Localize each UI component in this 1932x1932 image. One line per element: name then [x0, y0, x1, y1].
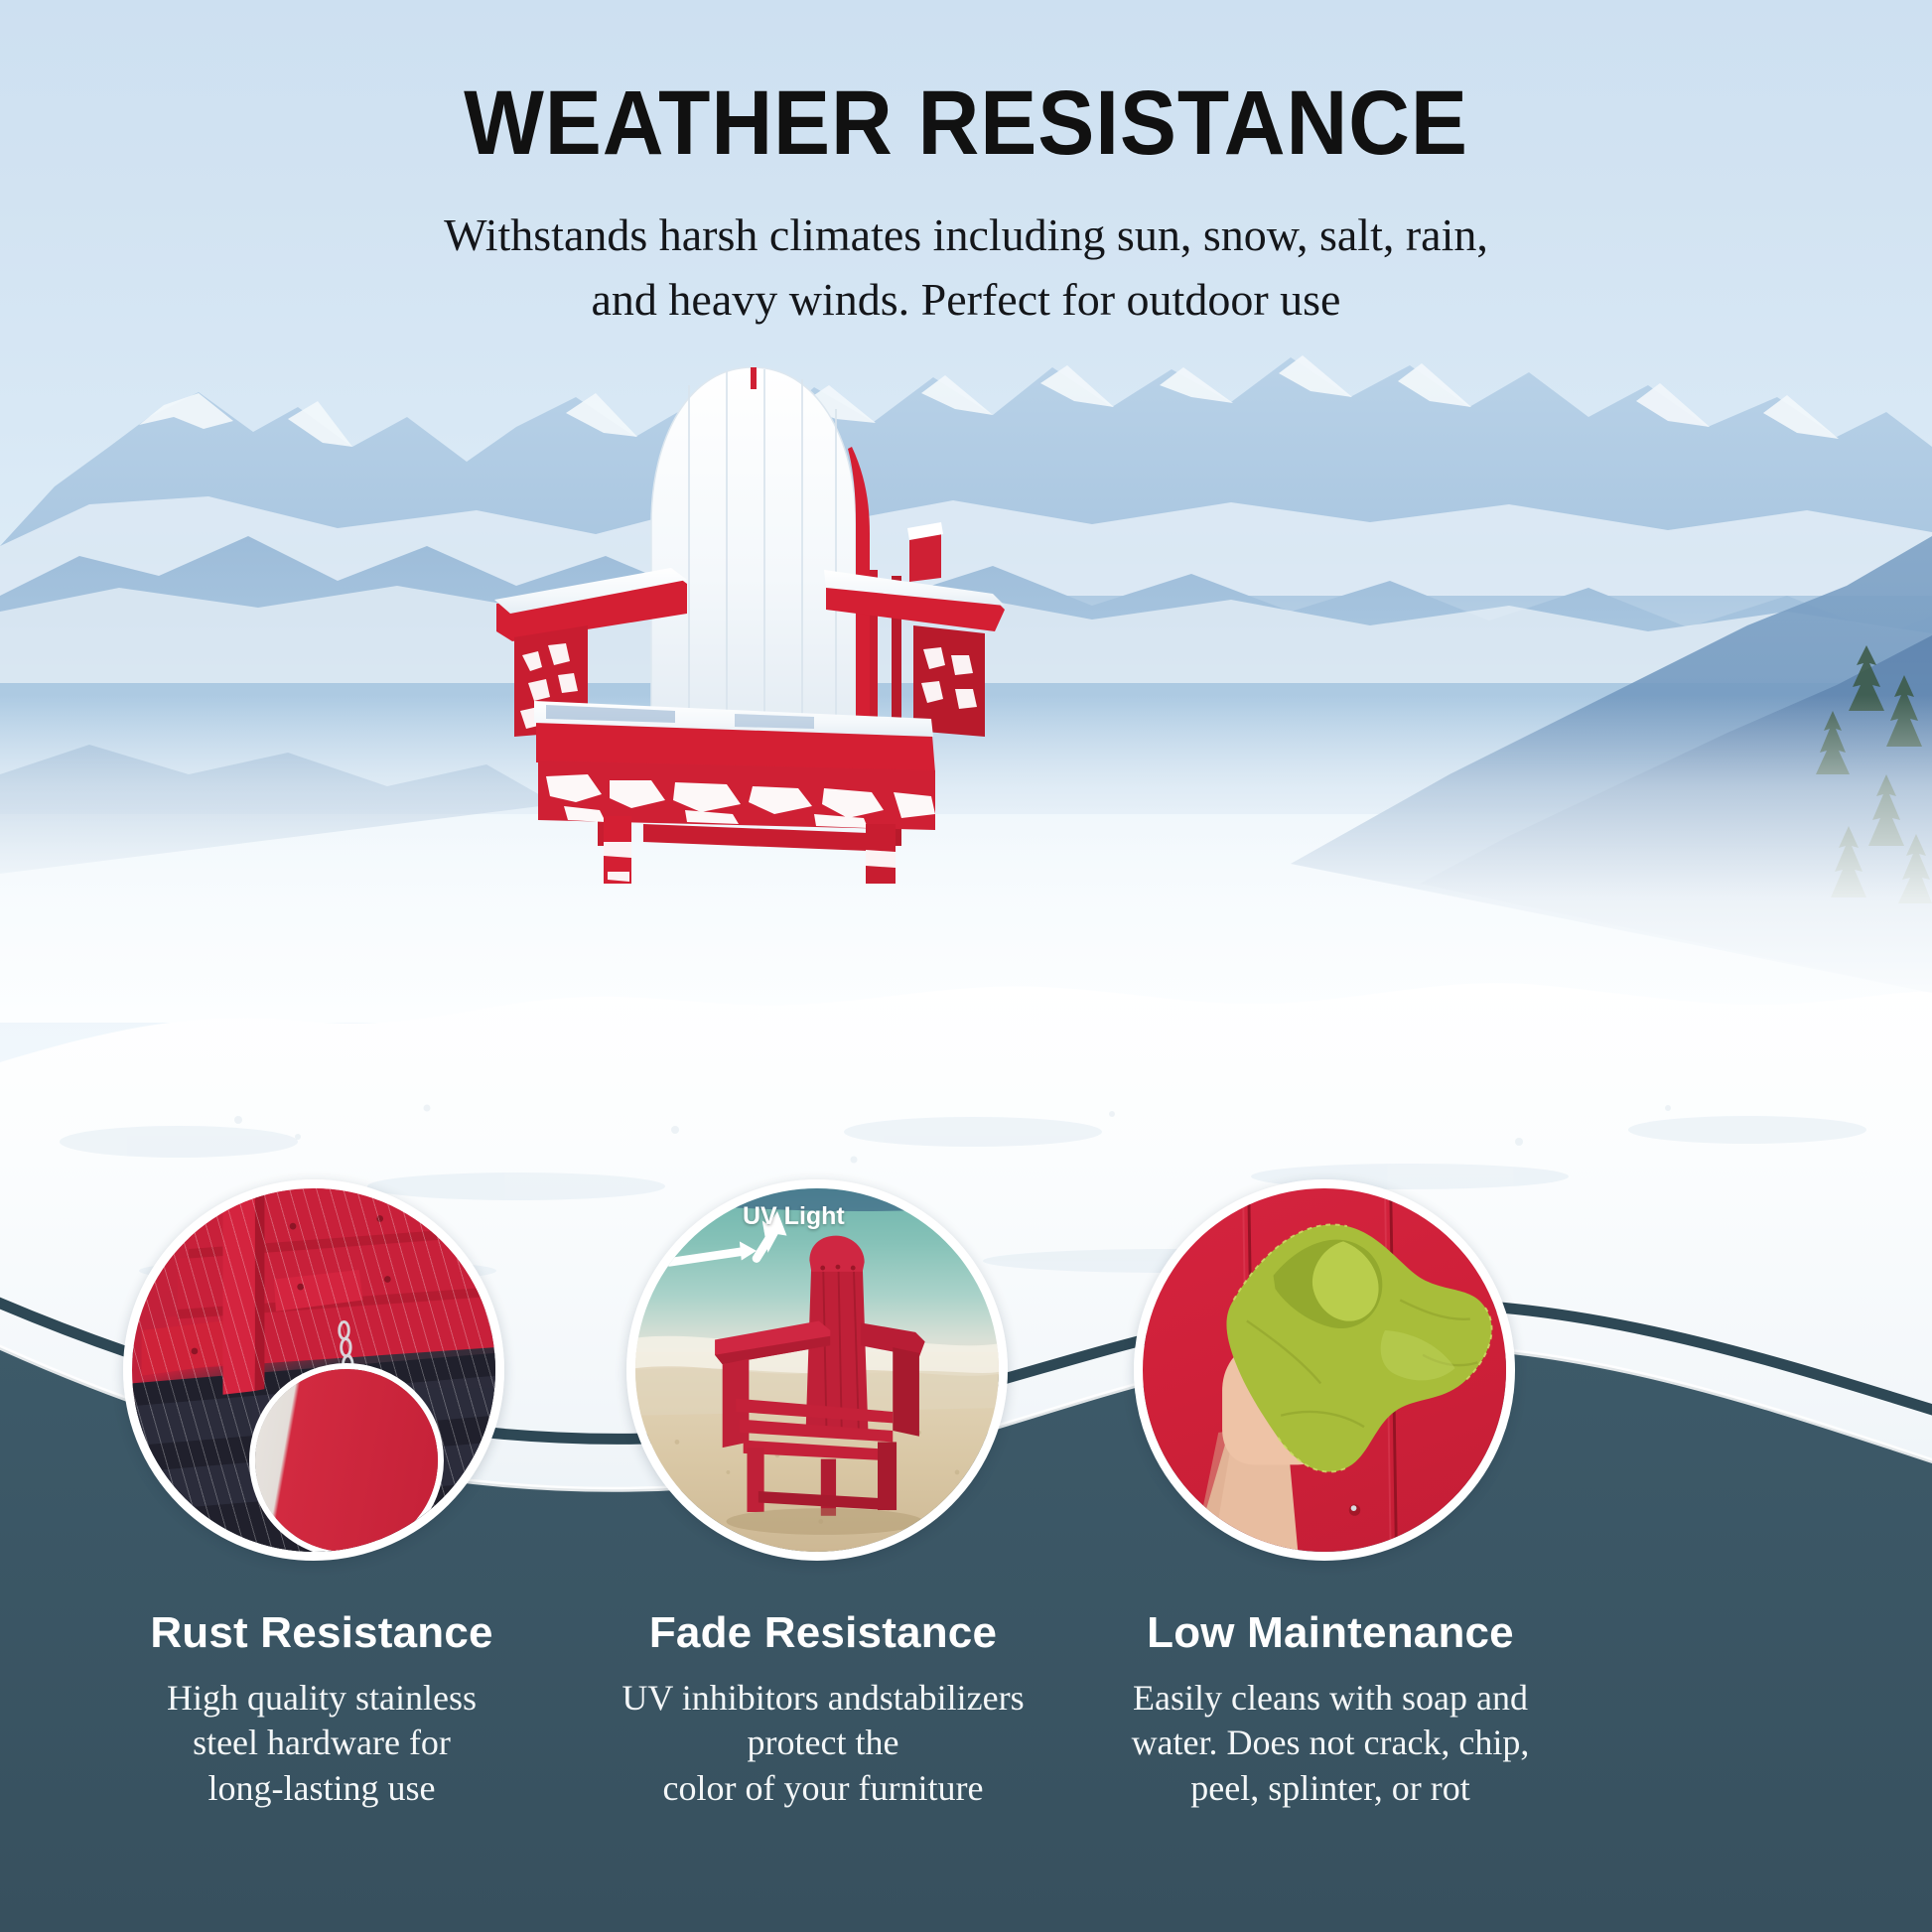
chain-detail-inset — [249, 1363, 444, 1558]
subtitle-line-2: and heavy winds. Perfect for outdoor use — [0, 267, 1932, 332]
header-block: WEATHER RESISTANCE Withstands harsh clim… — [0, 77, 1932, 333]
beach-scene — [635, 1188, 999, 1552]
hand-wiping-illustration — [1143, 1188, 1506, 1552]
feature-desc-rust-resistance: High quality stainless steel hardware fo… — [95, 1676, 548, 1811]
uv-arrow-line — [669, 1251, 747, 1262]
feature-desc-line: protect the — [597, 1721, 1049, 1765]
feature-image-fade-resistance[interactable]: UV Light — [626, 1179, 1008, 1561]
feature-desc-line: peel, splinter, or rot — [1104, 1766, 1557, 1811]
page-subtitle: Withstands harsh climates including sun,… — [0, 203, 1932, 333]
feature-desc-line: Easily cleans with soap and — [1104, 1676, 1557, 1721]
feature-desc-line: UV inhibitors andstabilizers — [597, 1676, 1049, 1721]
page-title: WEATHER RESISTANCE — [68, 77, 1864, 169]
hero-snow-covered-adirondack-chair — [477, 328, 1033, 884]
uv-light-label: UV Light — [743, 1202, 845, 1231]
feature-title-fade-resistance: Fade Resistance — [597, 1608, 1049, 1658]
feature-block-fade-resistance: Fade Resistance UV inhibitors andstabili… — [597, 1608, 1049, 1811]
feature-title-rust-resistance: Rust Resistance — [95, 1608, 548, 1658]
subtitle-line-1: Withstands harsh climates including sun,… — [0, 203, 1932, 267]
feature-desc-line: High quality stainless — [95, 1676, 548, 1721]
feature-desc-line: steel hardware for — [95, 1721, 548, 1765]
feature-block-low-maintenance: Low Maintenance Easily cleans with soap … — [1104, 1608, 1557, 1811]
feature-block-rust-resistance: Rust Resistance High quality stainless s… — [95, 1608, 548, 1811]
infographic-canvas: WEATHER RESISTANCE Withstands harsh clim… — [0, 0, 1932, 1932]
feature-title-low-maintenance: Low Maintenance — [1104, 1608, 1557, 1658]
feature-desc-fade-resistance: UV inhibitors andstabilizers protect the… — [597, 1676, 1049, 1811]
feature-desc-line: color of your furniture — [597, 1766, 1049, 1811]
feature-desc-low-maintenance: Easily cleans with soap and water. Does … — [1104, 1676, 1557, 1811]
feature-desc-line: water. Does not crack, chip, — [1104, 1721, 1557, 1765]
feature-image-low-maintenance[interactable] — [1134, 1179, 1515, 1561]
feature-image-rust-resistance[interactable] — [123, 1179, 504, 1561]
feature-desc-line: long-lasting use — [95, 1766, 548, 1811]
